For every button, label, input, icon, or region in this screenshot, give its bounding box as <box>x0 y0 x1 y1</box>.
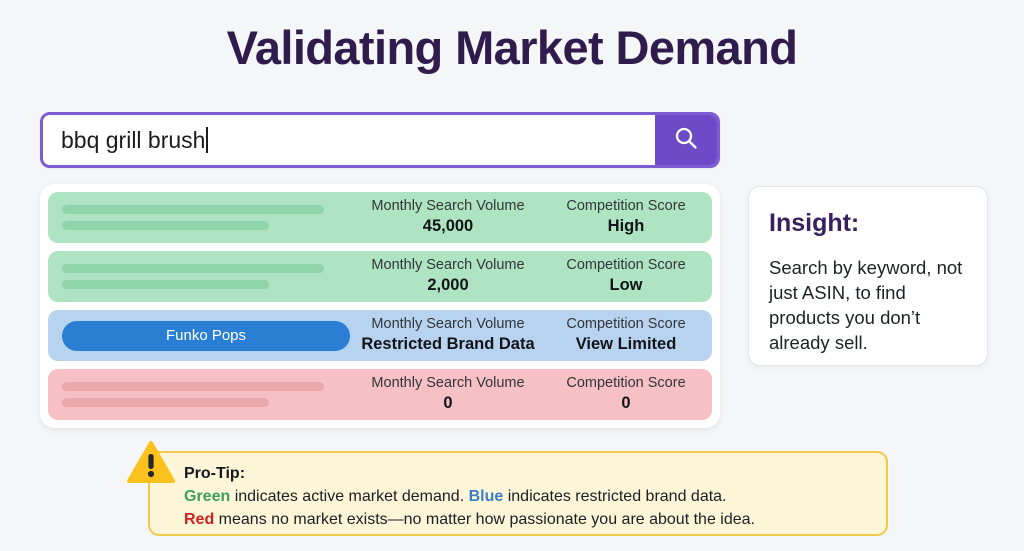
table-row[interactable]: Monthly Search Volume 2,000 Competition … <box>48 251 712 302</box>
text-cursor <box>206 127 208 153</box>
metric-label: Monthly Search Volume <box>350 374 546 393</box>
redacted-bar <box>62 205 324 214</box>
pro-tip-text-b: indicates restricted brand data. <box>503 488 726 505</box>
search-results-list: Monthly Search Volume 45,000 Competition… <box>40 184 720 428</box>
redacted-bar <box>62 221 269 230</box>
redacted-bar <box>62 398 269 407</box>
metric-competition-score: Competition Score View Limited <box>546 315 706 356</box>
row-title-redacted <box>58 264 350 289</box>
pro-tip-text-c: means no market exists—no matter how pas… <box>214 511 755 528</box>
metric-search-volume: Monthly Search Volume 45,000 <box>350 197 546 238</box>
metric-value: Restricted Brand Data <box>350 334 546 356</box>
table-row[interactable]: Funko Pops Monthly Search Volume Restric… <box>48 310 712 361</box>
table-row[interactable]: Monthly Search Volume 45,000 Competition… <box>48 192 712 243</box>
metric-label: Competition Score <box>546 197 706 216</box>
metric-label: Monthly Search Volume <box>350 315 546 334</box>
search-bar[interactable]: bbq grill brush <box>40 112 720 168</box>
pro-tip-title: Pro-Tip: <box>184 465 868 483</box>
table-row[interactable]: Monthly Search Volume 0 Competition Scor… <box>48 369 712 420</box>
metric-value: 0 <box>350 393 546 415</box>
row-brand: Funko Pops <box>58 321 350 351</box>
warning-triangle-icon <box>127 440 175 484</box>
metric-value: 2,000 <box>350 275 546 297</box>
metric-label: Competition Score <box>546 374 706 393</box>
metric-label: Monthly Search Volume <box>350 197 546 216</box>
metric-competition-score: Competition Score High <box>546 197 706 238</box>
metric-value: 0 <box>546 393 706 415</box>
keyword-red: Red <box>184 511 214 528</box>
metric-search-volume: Monthly Search Volume 2,000 <box>350 256 546 297</box>
metric-value: High <box>546 216 706 238</box>
metric-value: Low <box>546 275 706 297</box>
metric-competition-score: Competition Score Low <box>546 256 706 297</box>
pro-tip-line-1: Green indicates active market demand. Bl… <box>184 486 868 509</box>
page-title: Validating Market Demand <box>0 22 1024 74</box>
redacted-bar <box>62 280 269 289</box>
metric-label: Competition Score <box>546 315 706 334</box>
row-title-redacted <box>58 382 350 407</box>
metric-competition-score: Competition Score 0 <box>546 374 706 415</box>
metric-value: 45,000 <box>350 216 546 238</box>
metric-search-volume: Monthly Search Volume Restricted Brand D… <box>350 315 546 356</box>
insight-heading: Insight: <box>769 209 967 238</box>
pro-tip-callout: Pro-Tip: Green indicates active market d… <box>148 451 888 536</box>
pro-tip-text-a: indicates active market demand. <box>230 488 468 505</box>
redacted-bar <box>62 264 324 273</box>
search-button[interactable] <box>655 115 717 165</box>
metric-label: Monthly Search Volume <box>350 256 546 275</box>
pro-tip-line-2: Red means no market exists—no matter how… <box>184 509 868 532</box>
metric-search-volume: Monthly Search Volume 0 <box>350 374 546 415</box>
insight-panel: Insight: Search by keyword, not just ASI… <box>748 186 988 366</box>
row-title-redacted <box>58 205 350 230</box>
metric-label: Competition Score <box>546 256 706 275</box>
search-input[interactable]: bbq grill brush <box>43 115 655 165</box>
redacted-bar <box>62 382 324 391</box>
insight-body: Search by keyword, not just ASIN, to fin… <box>769 255 967 356</box>
brand-badge[interactable]: Funko Pops <box>62 321 350 351</box>
search-input-value: bbq grill brush <box>61 127 205 154</box>
search-icon <box>672 124 700 157</box>
metric-value: View Limited <box>546 334 706 356</box>
keyword-blue: Blue <box>469 488 504 505</box>
keyword-green: Green <box>184 488 230 505</box>
